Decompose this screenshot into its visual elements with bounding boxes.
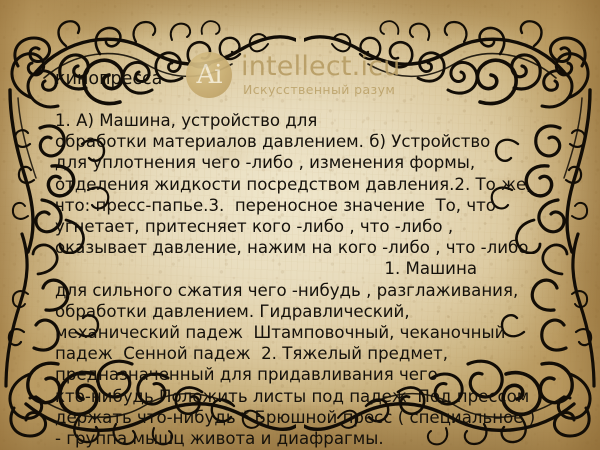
slide-content: кинопресса 1. А) Машина, устройство для … [55,0,565,450]
article-heading-2: 1. Машина [55,258,563,279]
article-paragraph-2: для сильного сжатия чего -нибудь , разгл… [55,281,535,448]
keyword-heading: кинопресса [55,69,162,89]
article-paragraph-1: 1. А) Машина, устройство для обработки м… [55,111,532,257]
slide-canvas: Ai intellect.icu Искусственный разум кин… [0,0,600,450]
dictionary-article: 1. А) Машина, устройство для обработки м… [55,110,563,450]
